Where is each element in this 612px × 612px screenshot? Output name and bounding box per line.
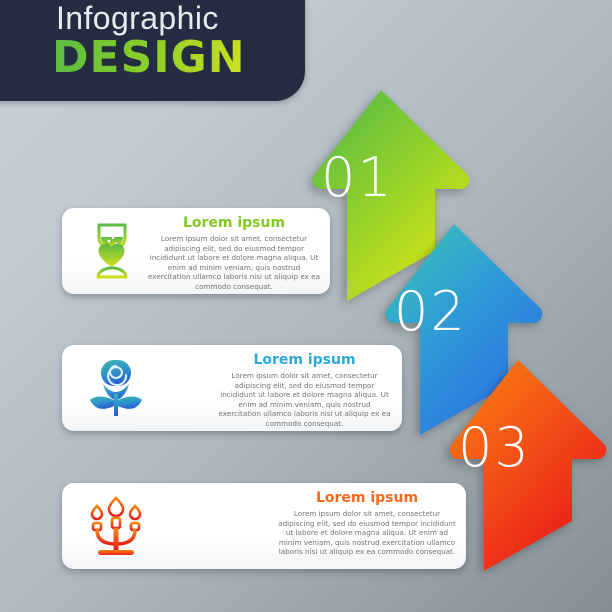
step-card-title-01: Lorem ipsum <box>148 215 320 231</box>
step-card-text-02: Lorem ipsum dolor sit amet, consectetur … <box>217 371 392 429</box>
step-card-title-02: Lorem ipsum <box>217 352 392 368</box>
step-card-text-03: Lorem ipsum dolor sit amet, consectetur … <box>278 509 456 557</box>
rose-flower-icon <box>82 354 150 422</box>
header-title-bottom: DESIGN <box>52 32 246 83</box>
step-card-body-02: Lorem ipsum Lorem ipsum dolor sit amet, … <box>217 352 392 429</box>
header-panel: Infographic DESIGN <box>0 0 305 101</box>
step-card-title-03: Lorem ipsum <box>278 490 456 506</box>
wine-glass-heart-icon <box>82 217 150 285</box>
step-card-body-01: Lorem ipsum Lorem ipsum dolor sit amet, … <box>148 215 320 292</box>
step-card-03[interactable]: Lorem ipsum Lorem ipsum dolor sit amet, … <box>62 483 466 569</box>
candelabra-icon <box>82 492 150 560</box>
step-card-02[interactable]: Lorem ipsum Lorem ipsum dolor sit amet, … <box>62 345 402 431</box>
infographic-canvas: Infographic DESIGN 01 <box>0 0 612 612</box>
step-card-body-03: Lorem ipsum Lorem ipsum dolor sit amet, … <box>278 490 456 557</box>
step-card-text-01: Lorem ipsum dolor sit amet, consectetur … <box>148 234 320 292</box>
step-card-01[interactable]: Lorem ipsum Lorem ipsum dolor sit amet, … <box>62 208 330 294</box>
